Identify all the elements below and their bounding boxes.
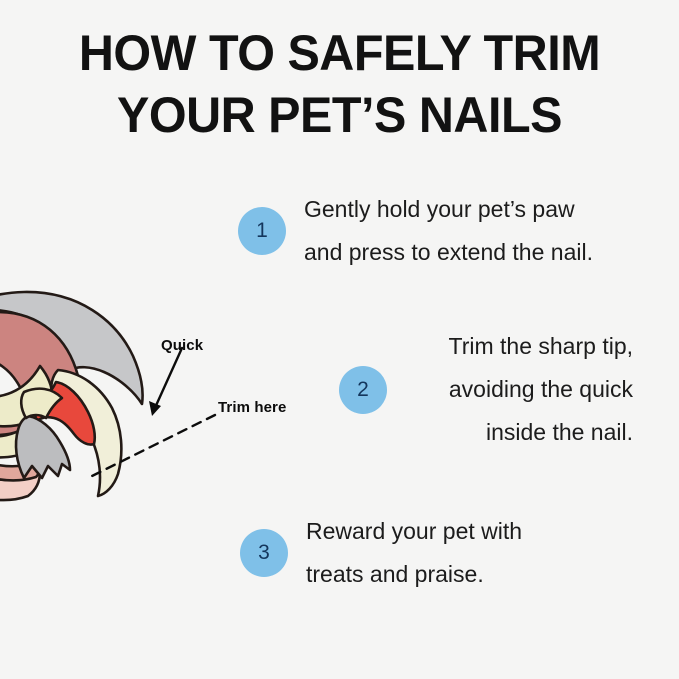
step-text-line: Trim the sharp tip, [405,325,633,368]
title-line-2: YOUR PET’S NAILS [10,84,669,146]
infographic-canvas: HOW TO SAFELY TRIM YOUR PET’S NAILS [0,0,679,679]
step-item-2: 2 Trim the sharp tip, avoiding the quick… [339,325,633,454]
step-text-line: inside the nail. [405,411,633,454]
step-badge-2: 2 [339,366,387,414]
step-item-1: 1 Gently hold your pet’s paw and press t… [238,188,593,274]
step-text-line: treats and praise. [306,553,522,596]
claw-tip-trim-shape [16,416,70,478]
step-item-3: 3 Reward your pet with treats and praise… [240,510,522,596]
step-text-line: Gently hold your pet’s paw [304,188,593,231]
label-quick: Quick [161,337,203,354]
label-trim-here: Trim here [218,399,286,416]
step-badge-3: 3 [240,529,288,577]
step-text-line: and press to extend the nail. [304,231,593,274]
step-text-line: Reward your pet with [306,510,522,553]
step-badge-1: 1 [238,207,286,255]
step-text-line: avoiding the quick [405,368,633,411]
dog-paw-nail-anatomy-illustration [0,286,228,504]
page-title: HOW TO SAFELY TRIM YOUR PET’S NAILS [0,22,679,146]
title-line-1: HOW TO SAFELY TRIM [10,22,669,84]
step-text-2: Trim the sharp tip, avoiding the quick i… [405,325,633,454]
step-text-1: Gently hold your pet’s paw and press to … [304,188,593,274]
step-text-3: Reward your pet with treats and praise. [306,510,522,596]
